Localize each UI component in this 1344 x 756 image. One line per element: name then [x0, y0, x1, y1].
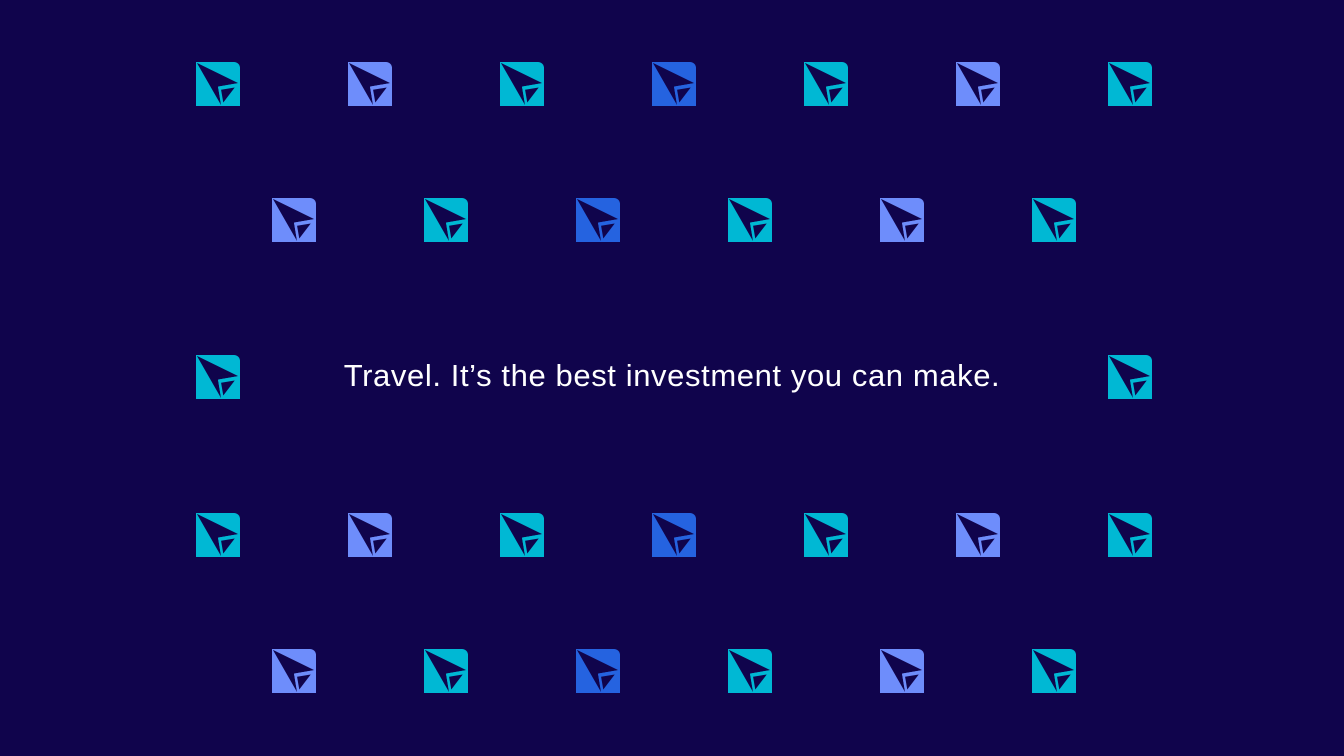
arrow-cursor-logo-icon: [500, 513, 544, 557]
wallpaper-canvas: Travel. It’s the best investment you can…: [0, 0, 1344, 756]
arrow-cursor-logo-icon: [1032, 649, 1076, 693]
arrow-cursor-logo-icon: [1108, 513, 1152, 557]
arrow-cursor-logo-icon: [272, 649, 316, 693]
arrow-cursor-logo-icon: [652, 62, 696, 106]
arrow-cursor-logo-icon: [576, 198, 620, 242]
quote-row: Travel. It’s the best investment you can…: [0, 352, 1344, 400]
arrow-cursor-logo-icon: [1032, 198, 1076, 242]
arrow-cursor-logo-icon: [500, 62, 544, 106]
arrow-cursor-logo-icon: [728, 649, 772, 693]
arrow-cursor-logo-icon: [804, 513, 848, 557]
arrow-cursor-logo-icon: [424, 198, 468, 242]
arrow-cursor-logo-icon: [652, 513, 696, 557]
arrow-cursor-logo-icon: [1108, 62, 1152, 106]
arrow-cursor-logo-icon: [880, 649, 924, 693]
arrow-cursor-logo-icon: [956, 513, 1000, 557]
arrow-cursor-logo-icon: [424, 649, 468, 693]
arrow-cursor-logo-icon: [576, 649, 620, 693]
arrow-cursor-logo-icon: [956, 62, 1000, 106]
arrow-cursor-logo-icon: [728, 198, 772, 242]
arrow-cursor-logo-icon: [348, 513, 392, 557]
arrow-cursor-logo-icon: [804, 62, 848, 106]
quote-text: Travel. It’s the best investment you can…: [344, 357, 1001, 394]
arrow-cursor-logo-icon: [272, 198, 316, 242]
arrow-cursor-logo-icon: [880, 198, 924, 242]
arrow-cursor-logo-icon: [196, 513, 240, 557]
arrow-cursor-logo-icon: [348, 62, 392, 106]
arrow-cursor-logo-icon: [196, 62, 240, 106]
